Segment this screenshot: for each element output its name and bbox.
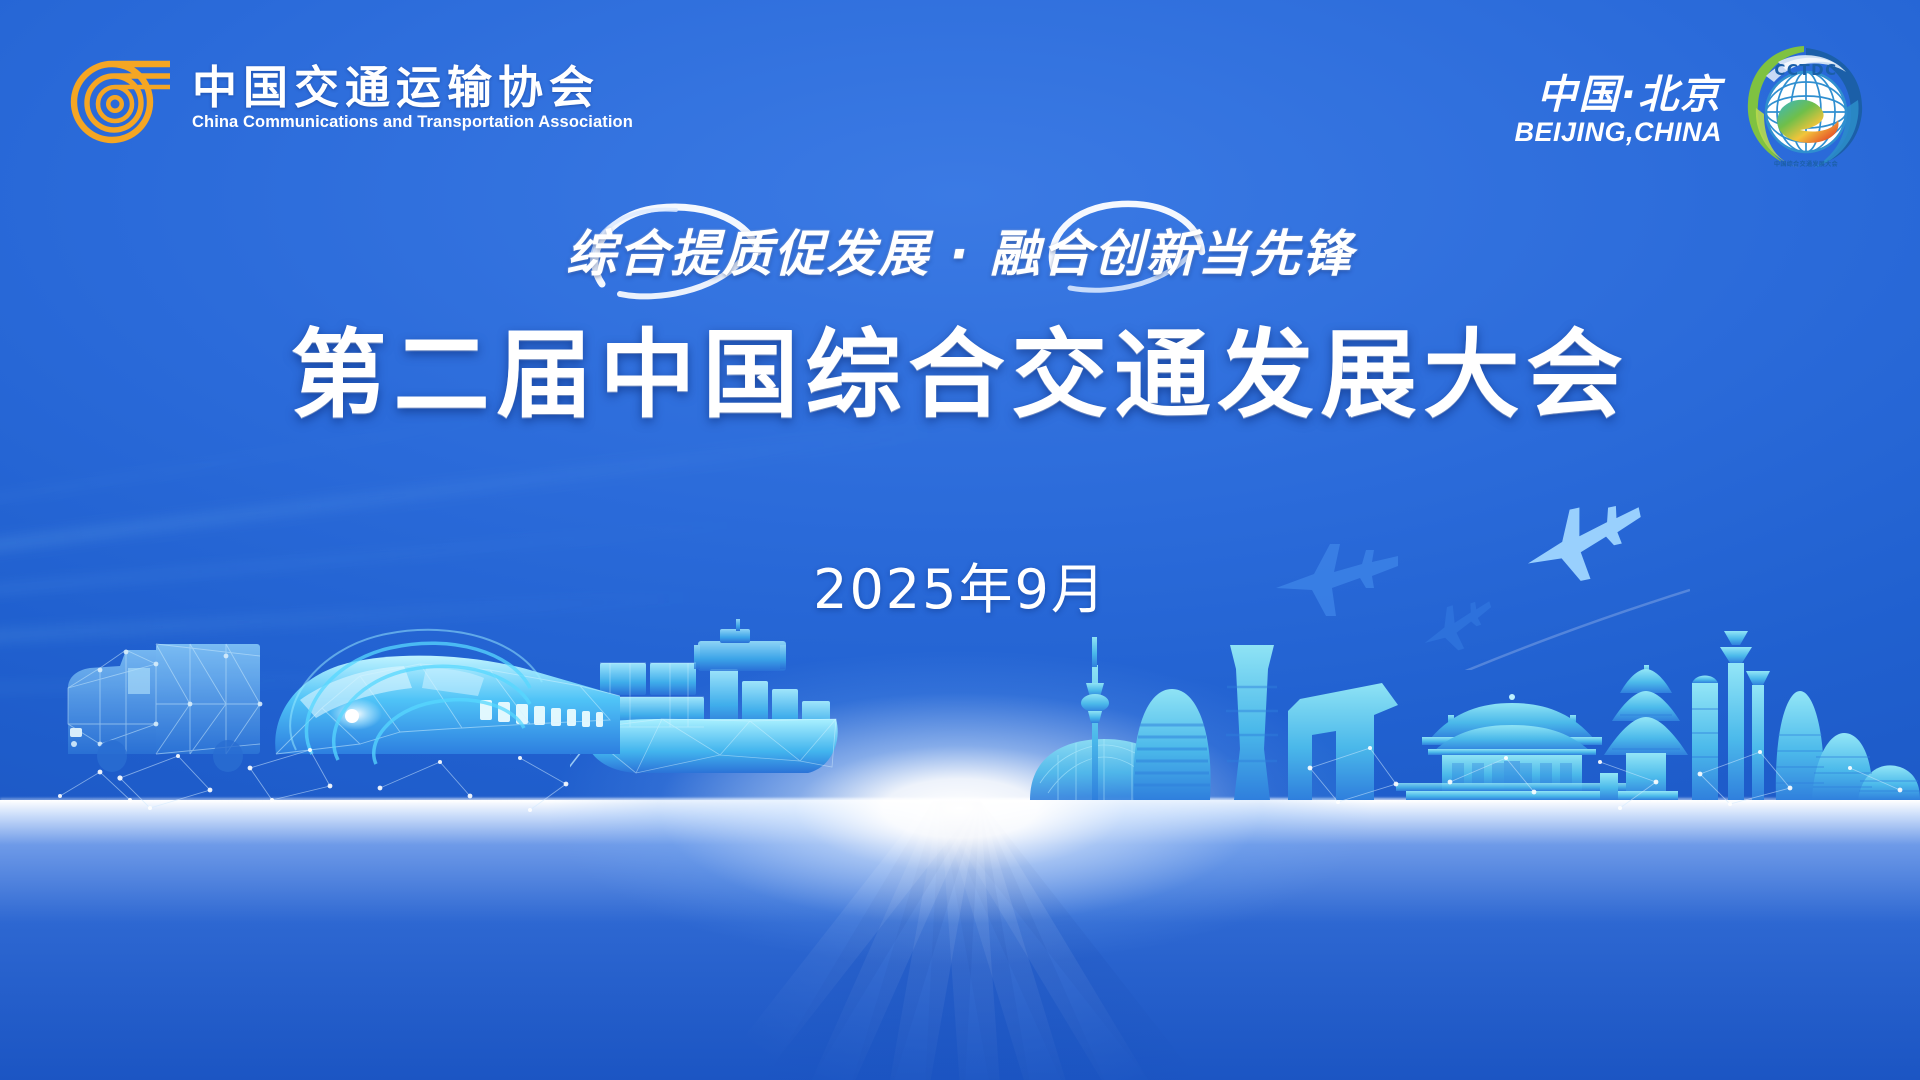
association-logo[interactable]: 中国交通运输协会 China Communications and Transp… <box>58 52 633 144</box>
cctdc-globe-emblem-icon: CCTDC 中国综合交通发展大会 <box>1738 42 1874 178</box>
conference-banner: 中国交通运输协会 China Communications and Transp… <box>0 0 1920 1080</box>
container-ship-icon <box>570 615 860 800</box>
daxing-airport-icon <box>1776 691 1920 800</box>
beijing-skyline-group-right <box>1600 615 1920 800</box>
event-date: 2025年9月 <box>0 545 1920 624</box>
slogan-block: 综合提质促发展 · 融合创新当先锋 <box>0 206 1920 294</box>
needle-tower-icon <box>1720 631 1770 800</box>
high-speed-train-icon <box>275 656 620 754</box>
china-zun-tower-icon <box>1226 645 1278 800</box>
association-name-en: China Communications and Transportation … <box>192 114 633 131</box>
greenland-oval-tower-icon <box>1133 689 1210 800</box>
beijing-skyline-group <box>1030 615 1650 800</box>
national-centre-performing-arts-icon <box>1030 739 1178 800</box>
slab-tower-icon <box>1692 676 1718 801</box>
host-city-logo[interactable]: 中国·北京 BEIJING,CHINA <box>1514 42 1874 178</box>
spiral-logo-icon <box>58 52 174 144</box>
host-city-label-cn: 中国·北京 <box>1537 74 1722 116</box>
speed-arc-decoration <box>306 643 530 764</box>
horizon-line <box>0 798 1920 802</box>
page-title: 第二届中国综合交通发展大会 <box>0 322 1920 430</box>
temple-of-heaven-icon <box>1604 665 1688 800</box>
cctv-headquarters-icon <box>1288 683 1398 800</box>
association-name-cn: 中国交通运输协会 <box>192 65 633 110</box>
event-slogan: 综合提质促发展 · 融合创新当先锋 <box>566 214 1354 286</box>
host-city-label-en: BEIJING,CHINA <box>1514 119 1722 146</box>
cargo-truck-icon <box>68 644 262 772</box>
svg-text:CCTDC: CCTDC <box>1774 61 1837 79</box>
low-rise-building-icon <box>1600 773 1618 800</box>
tiananmen-icon <box>1396 694 1628 800</box>
truck-and-train-group <box>60 604 620 804</box>
light-beam <box>0 669 614 695</box>
ground-shading <box>0 800 1920 1080</box>
cctv-tower-icon <box>1081 637 1109 800</box>
svg-text:中国综合交通发展大会: 中国综合交通发展大会 <box>1774 160 1839 168</box>
